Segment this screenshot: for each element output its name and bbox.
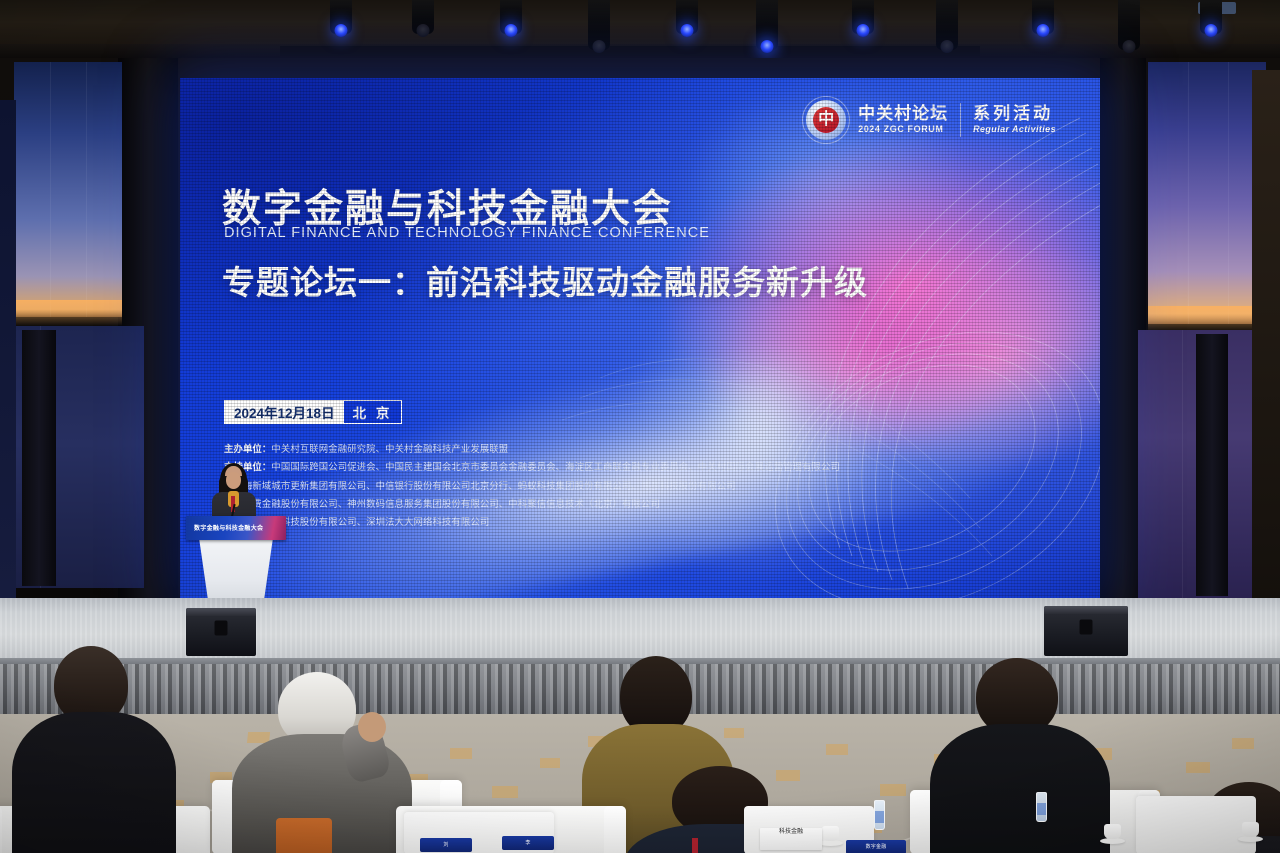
nameplate-3-text: 数字金融 [846, 840, 906, 853]
forum-logo-lockup: 中 中关村论坛 2024 ZGC FORUM 系列活动 Regular Acti… [806, 100, 1056, 140]
wall-panel-far-right [1252, 70, 1280, 610]
organizer-line: 北京海新域城市更新集团有限公司、中信银行股份有限公司北京分行、蚂蚁科技集团股份有… [224, 477, 924, 495]
logo-brand-cn: 中关村论坛 [858, 105, 948, 124]
organizer-value: 中关村互联网金融研究院、中关村金融科技产业发展联盟 [271, 443, 508, 454]
stage-light-9 [1032, 0, 1054, 34]
wall-panel-far-left [0, 100, 16, 600]
water-bottle-3 [874, 800, 885, 830]
stage-light-5 [676, 0, 698, 34]
audience-person-5 [944, 658, 1094, 853]
logo-mark-letter: 中 [813, 107, 839, 133]
wall-panel-right-upper [1148, 62, 1266, 324]
tent-card-1-text: 科技金融 [760, 828, 822, 838]
stage-light-8 [936, 0, 958, 50]
podium-banner: 数字金融与科技金融大会 [186, 516, 286, 540]
wall-door-right [1196, 334, 1228, 596]
wall-glow-right [1148, 306, 1266, 332]
organizer-list: 主办单位：中关村互联网金融研究院、中关村金融科技产业发展联盟 支持单位：中国国际… [224, 440, 924, 532]
audience-person-2-scarf [276, 818, 332, 853]
audience-person-2-hand [358, 712, 386, 742]
floor-monitor-right [1044, 606, 1128, 656]
badge-date: 2024年12月18日 [225, 401, 344, 423]
logo-divider [960, 103, 961, 137]
coffee-cup-2 [822, 826, 839, 841]
stage-light-7 [852, 0, 874, 34]
stage-light-1 [330, 0, 352, 34]
audience-person-4-lanyard [692, 838, 698, 853]
stage-light-11 [1200, 0, 1222, 34]
wall-glow-left [14, 300, 122, 326]
nameplate-1: 刘 [420, 838, 472, 852]
organizer-line: 上海合合信息科技股份有限公司、深圳法大大网络科技有限公司 [224, 513, 924, 531]
organizer-value: 马上消费金融股份有限公司、神州数码信息服务集团股份有限公司、中科聚信信息技术（北… [224, 498, 660, 509]
ceiling-truss-secondary [280, 46, 980, 56]
slide-subtitle-cn: 专题论坛一：前沿科技驱动金融服务新升级 [222, 256, 868, 304]
wall-door-left [22, 330, 56, 586]
podium: 数字金融与科技金融大会 [186, 516, 286, 608]
nameplate-1-text: 刘 [420, 838, 472, 852]
organizer-label: 主办单位： [224, 443, 271, 454]
organizer-value: 中国国际跨国公司促进会、中国民主建国会北京市委员会金融委员会、海淀区工商联金融专… [271, 461, 840, 472]
nameplate-2-text: 李 [502, 836, 554, 850]
zgc-forum-mark-icon: 中 [806, 100, 846, 140]
coffee-cup-3 [1242, 822, 1259, 837]
water-bottle-1 [1036, 792, 1047, 822]
logo-series-en: Regular Activities [973, 124, 1056, 136]
logo-brand-en: 2024 ZGC FORUM [858, 124, 948, 136]
led-screen: 中 中关村论坛 2024 ZGC FORUM 系列活动 Regular Acti… [180, 78, 1100, 602]
stage-light-6 [756, 0, 778, 50]
podium-banner-text: 数字金融与科技金融大会 [194, 523, 263, 532]
logo-series-cn: 系列活动 [973, 105, 1056, 124]
slide-title-en: DIGITAL FINANCE AND TECHNOLOGY FINANCE C… [224, 225, 710, 241]
audience-person-1 [26, 646, 156, 846]
coffee-cup-1 [1104, 824, 1121, 839]
logo-series-block: 系列活动 Regular Activities [973, 105, 1056, 135]
organizer-line: 马上消费金融股份有限公司、神州数码信息服务集团股份有限公司、中科聚信信息技术（北… [224, 495, 924, 513]
date-location-badge: 2024年12月18日 北 京 [224, 400, 402, 424]
wall-panel-left-upper [14, 62, 122, 317]
floor-monitor-left [186, 608, 256, 656]
speaker-face [226, 472, 241, 489]
organizer-line: 主办单位：中关村互联网金融研究院、中关村金融科技产业发展联盟 [224, 440, 924, 458]
stage-light-10 [1118, 0, 1140, 50]
stage-light-2 [412, 0, 434, 34]
organizer-value: 北京海新域城市更新集团有限公司、中信银行股份有限公司北京分行、蚂蚁科技集团股份有… [224, 480, 736, 491]
conference-photo-scene: 中 中关村论坛 2024 ZGC FORUM 系列活动 Regular Acti… [0, 0, 1280, 853]
badge-city: 北 京 [344, 401, 402, 423]
nameplate-3: 数字金融 [846, 840, 906, 853]
nameplate-2: 李 [502, 836, 554, 850]
organizer-line: 支持单位：中国国际跨国公司促进会、中国民主建国会北京市委员会金融委员会、海淀区工… [224, 458, 924, 476]
side-table-right [1136, 796, 1256, 853]
audience-person-2 [236, 672, 396, 853]
tent-card-1: 科技金融 [760, 828, 822, 850]
stage-light-3 [500, 0, 522, 34]
logo-brand-block: 中关村论坛 2024 ZGC FORUM [858, 105, 948, 135]
stage-light-4 [588, 0, 610, 50]
